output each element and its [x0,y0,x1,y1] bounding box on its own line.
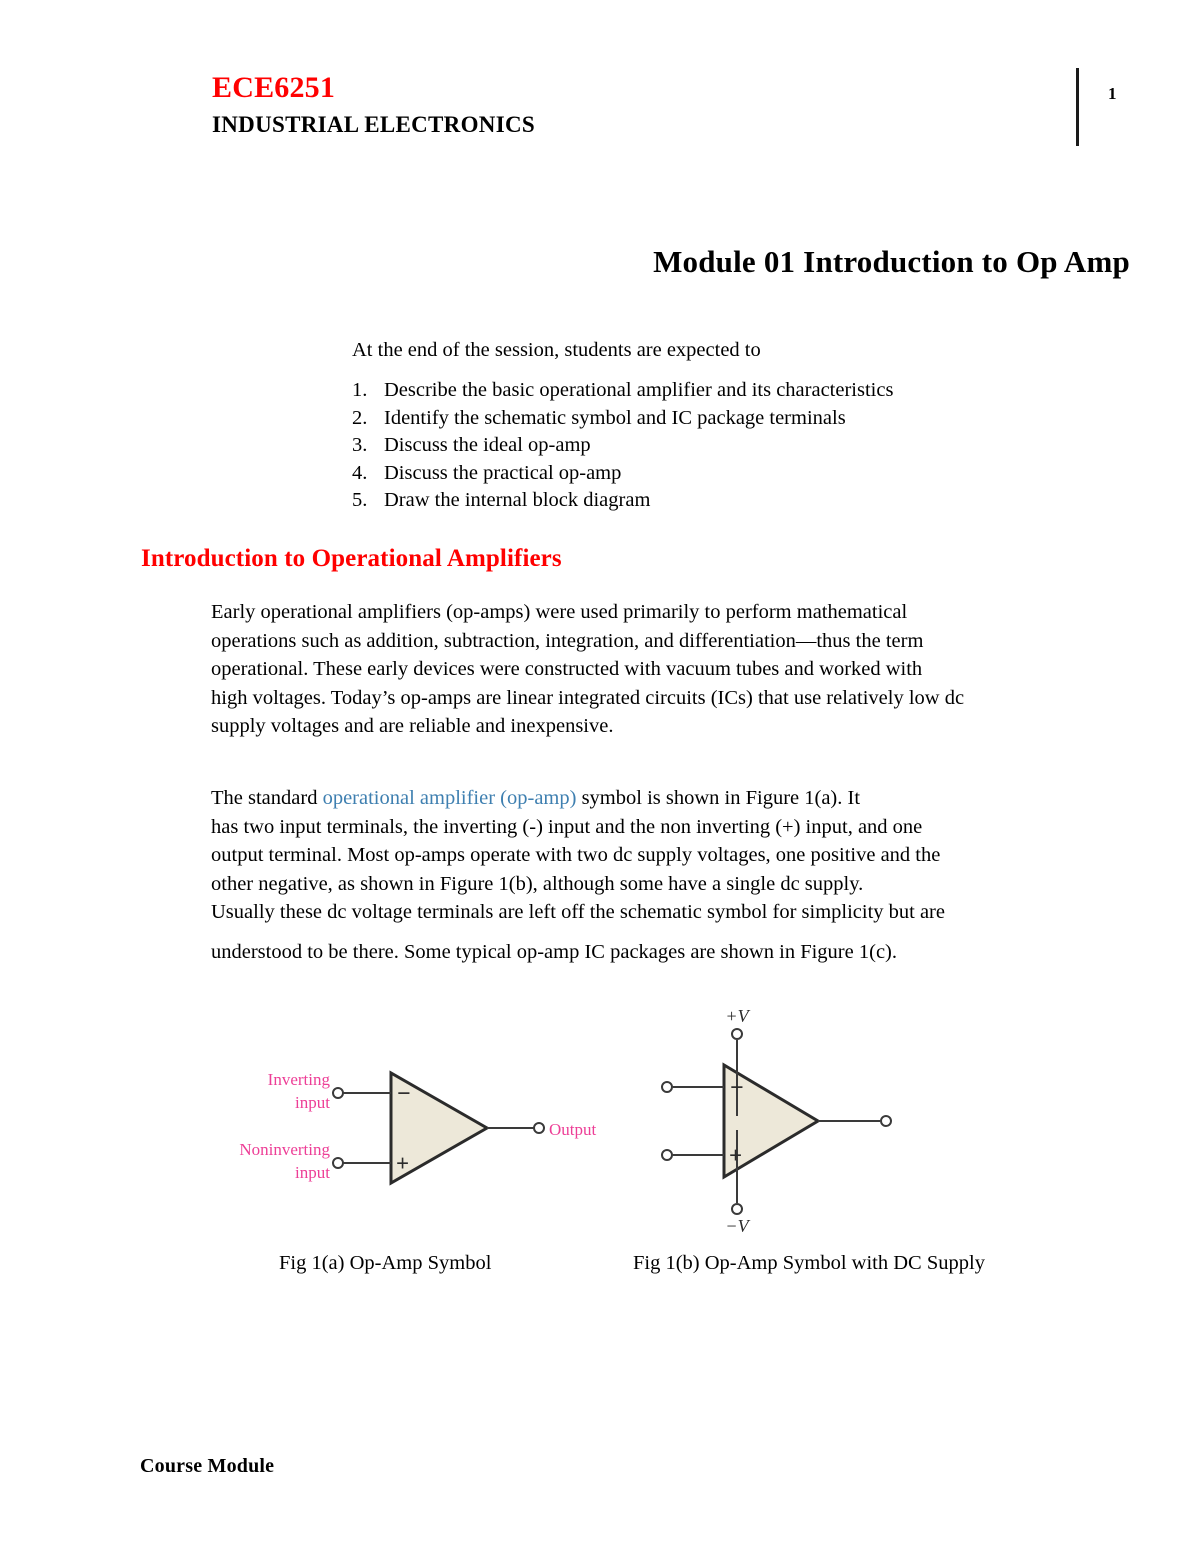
list-item-label: Discuss the ideal op-amp [384,432,591,460]
negative-supply-label: −V [725,1216,750,1236]
output-terminal-icon [881,1116,891,1126]
list-item-number: 5. [352,487,384,515]
header-divider-rule [1076,68,1079,146]
course-code: ECE6251 [212,73,335,103]
inverting-input-label-line2: input [295,1093,330,1112]
list-item-label: Discuss the practical op-amp [384,460,621,488]
list-item-label: Describe the basic operational amplifier… [384,377,893,405]
figures-row: − + Inverting input Noninverting input O… [0,1000,1200,1300]
inverting-input-label-line1: Inverting [268,1070,331,1089]
page-footer: Course Module [140,1454,274,1478]
paragraph-line: Usually these dc voltage terminals are l… [211,898,1141,927]
section-heading: Introduction to Operational Amplifiers [141,544,562,574]
list-item-number: 2. [352,405,384,433]
objectives-list: 1. Describe the basic operational amplif… [352,377,893,515]
negative-supply-terminal-icon [732,1204,742,1214]
paragraph-line: operational. These early devices were co… [211,655,1141,684]
fig-1a-caption: Fig 1(a) Op-Amp Symbol [279,1251,491,1276]
positive-supply-terminal-icon [732,1029,742,1039]
paragraph-line: other negative, as shown in Figure 1(b),… [211,870,1141,899]
paragraph-line-with-link: The standard operational amplifier (op-a… [211,784,1141,813]
paragraph-line: has two input terminals, the inverting (… [211,813,1141,842]
list-item: 3. Discuss the ideal op-amp [352,432,893,460]
fig-1a-opamp-symbol-diagram: − + Inverting input Noninverting input O… [225,1000,635,1210]
noninverting-input-label-line2: input [295,1163,330,1182]
page-header: ECE6251 INDUSTRIAL ELECTRONICS 1 [0,0,1200,165]
paragraph-text-suffix: symbol is shown in Figure 1(a). It [576,787,860,809]
noninverting-input-terminal-icon [662,1150,672,1160]
plus-sign-label: + [729,1143,742,1168]
page-number: 1 [1108,85,1117,102]
list-item-number: 4. [352,460,384,488]
objectives-intro: At the end of the session, students are … [352,337,761,365]
list-item: 2. Identify the schematic symbol and IC … [352,405,893,433]
paragraph-line: output terminal. Most op-amps operate wi… [211,841,1141,870]
op-amp-link[interactable]: operational amplifier (op-amp) [323,787,577,809]
paragraph-line: supply voltages and are reliable and ine… [211,712,1141,741]
paragraph-line: operations such as addition, subtraction… [211,627,1141,656]
list-item-number: 1. [352,377,384,405]
list-item: 4. Discuss the practical op-amp [352,460,893,488]
document-page: ECE6251 INDUSTRIAL ELECTRONICS 1 Module … [0,0,1200,1553]
output-label: Output [549,1120,597,1139]
body-paragraph-1: Early operational amplifiers (op-amps) w… [211,598,1141,741]
paragraph-line: Early operational amplifiers (op-amps) w… [211,598,1141,627]
paragraph-line: high voltages. Today’s op-amps are linea… [211,684,1141,713]
list-item: 1. Describe the basic operational amplif… [352,377,893,405]
noninverting-input-terminal-icon [333,1158,343,1168]
output-terminal-icon [534,1123,544,1133]
list-item-number: 3. [352,432,384,460]
fig-1b-opamp-symbol-dc-supply-diagram: +V −V − + [640,1000,930,1250]
inverting-input-terminal-icon [662,1082,672,1092]
list-item-label: Identify the schematic symbol and IC pac… [384,405,846,433]
minus-sign-label: − [397,1081,411,1107]
paragraph-text-prefix: The standard [211,787,323,809]
inverting-input-terminal-icon [333,1088,343,1098]
course-title: INDUSTRIAL ELECTRONICS [212,113,535,136]
minus-sign-label: − [730,1075,744,1101]
list-item-label: Draw the internal block diagram [384,487,650,515]
positive-supply-label: +V [725,1006,750,1026]
page-title: Module 01 Introduction to Op Amp [200,243,1130,280]
fig-1b-caption: Fig 1(b) Op-Amp Symbol with DC Supply [633,1251,985,1276]
plus-sign-label: + [396,1151,409,1176]
body-paragraph-2: The standard operational amplifier (op-a… [211,784,1141,966]
noninverting-input-label-line1: Noninverting [239,1140,330,1159]
paragraph-line: understood to be there. Some typical op-… [211,938,1141,967]
list-item: 5. Draw the internal block diagram [352,487,893,515]
